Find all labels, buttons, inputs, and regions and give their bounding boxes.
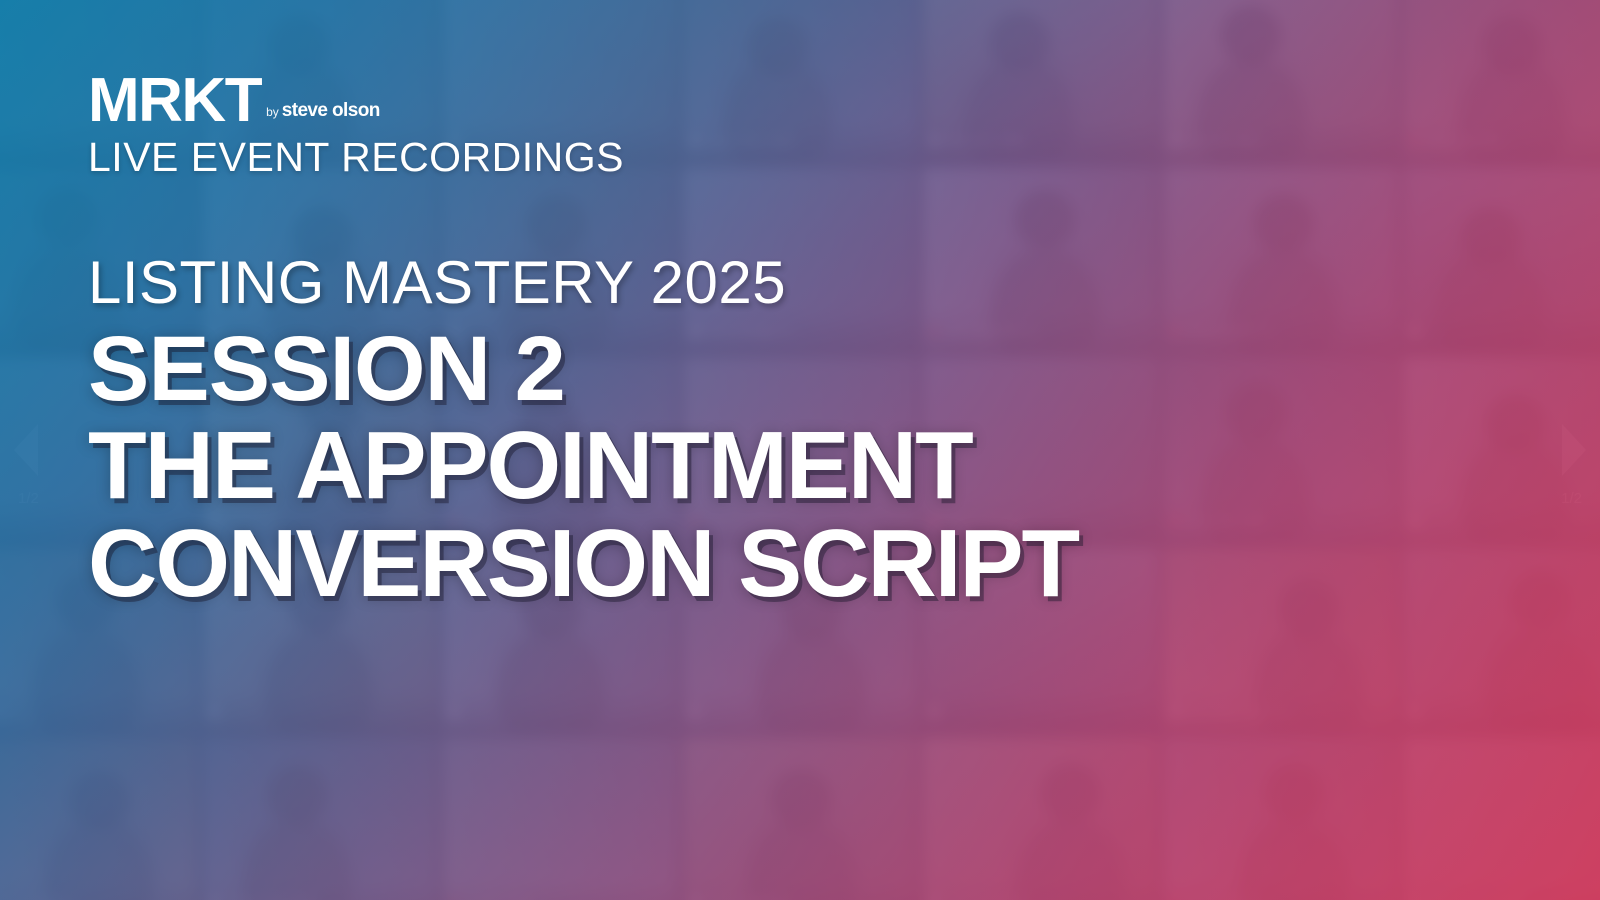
title-content: MRKT by steve olson LIVE EVENT RECORDING… xyxy=(88,72,1508,613)
headline-line-3: CONVERSION SCRIPT xyxy=(88,515,1508,613)
headline-line-2: THE APPOINTMENT xyxy=(88,417,1508,515)
brand-tagline: LIVE EVENT RECORDINGS xyxy=(88,136,1508,179)
brand-byline: by steve olson xyxy=(266,100,380,131)
brand-lockup: MRKT by steve olson xyxy=(88,72,1508,131)
event-title: LISTING MASTERY 2025 xyxy=(88,253,1508,313)
brand-byline-prefix: by xyxy=(266,105,279,119)
session-headline: SESSION 2 THE APPOINTMENT CONVERSION SCR… xyxy=(88,323,1508,613)
brand-wordmark: MRKT xyxy=(88,72,261,131)
title-card: Jules Park, 90DAlex Kim, 90DReina B, 90D… xyxy=(0,0,1600,900)
brand-byline-name: steve olson xyxy=(282,100,380,122)
headline-line-1: SESSION 2 xyxy=(88,323,1508,417)
